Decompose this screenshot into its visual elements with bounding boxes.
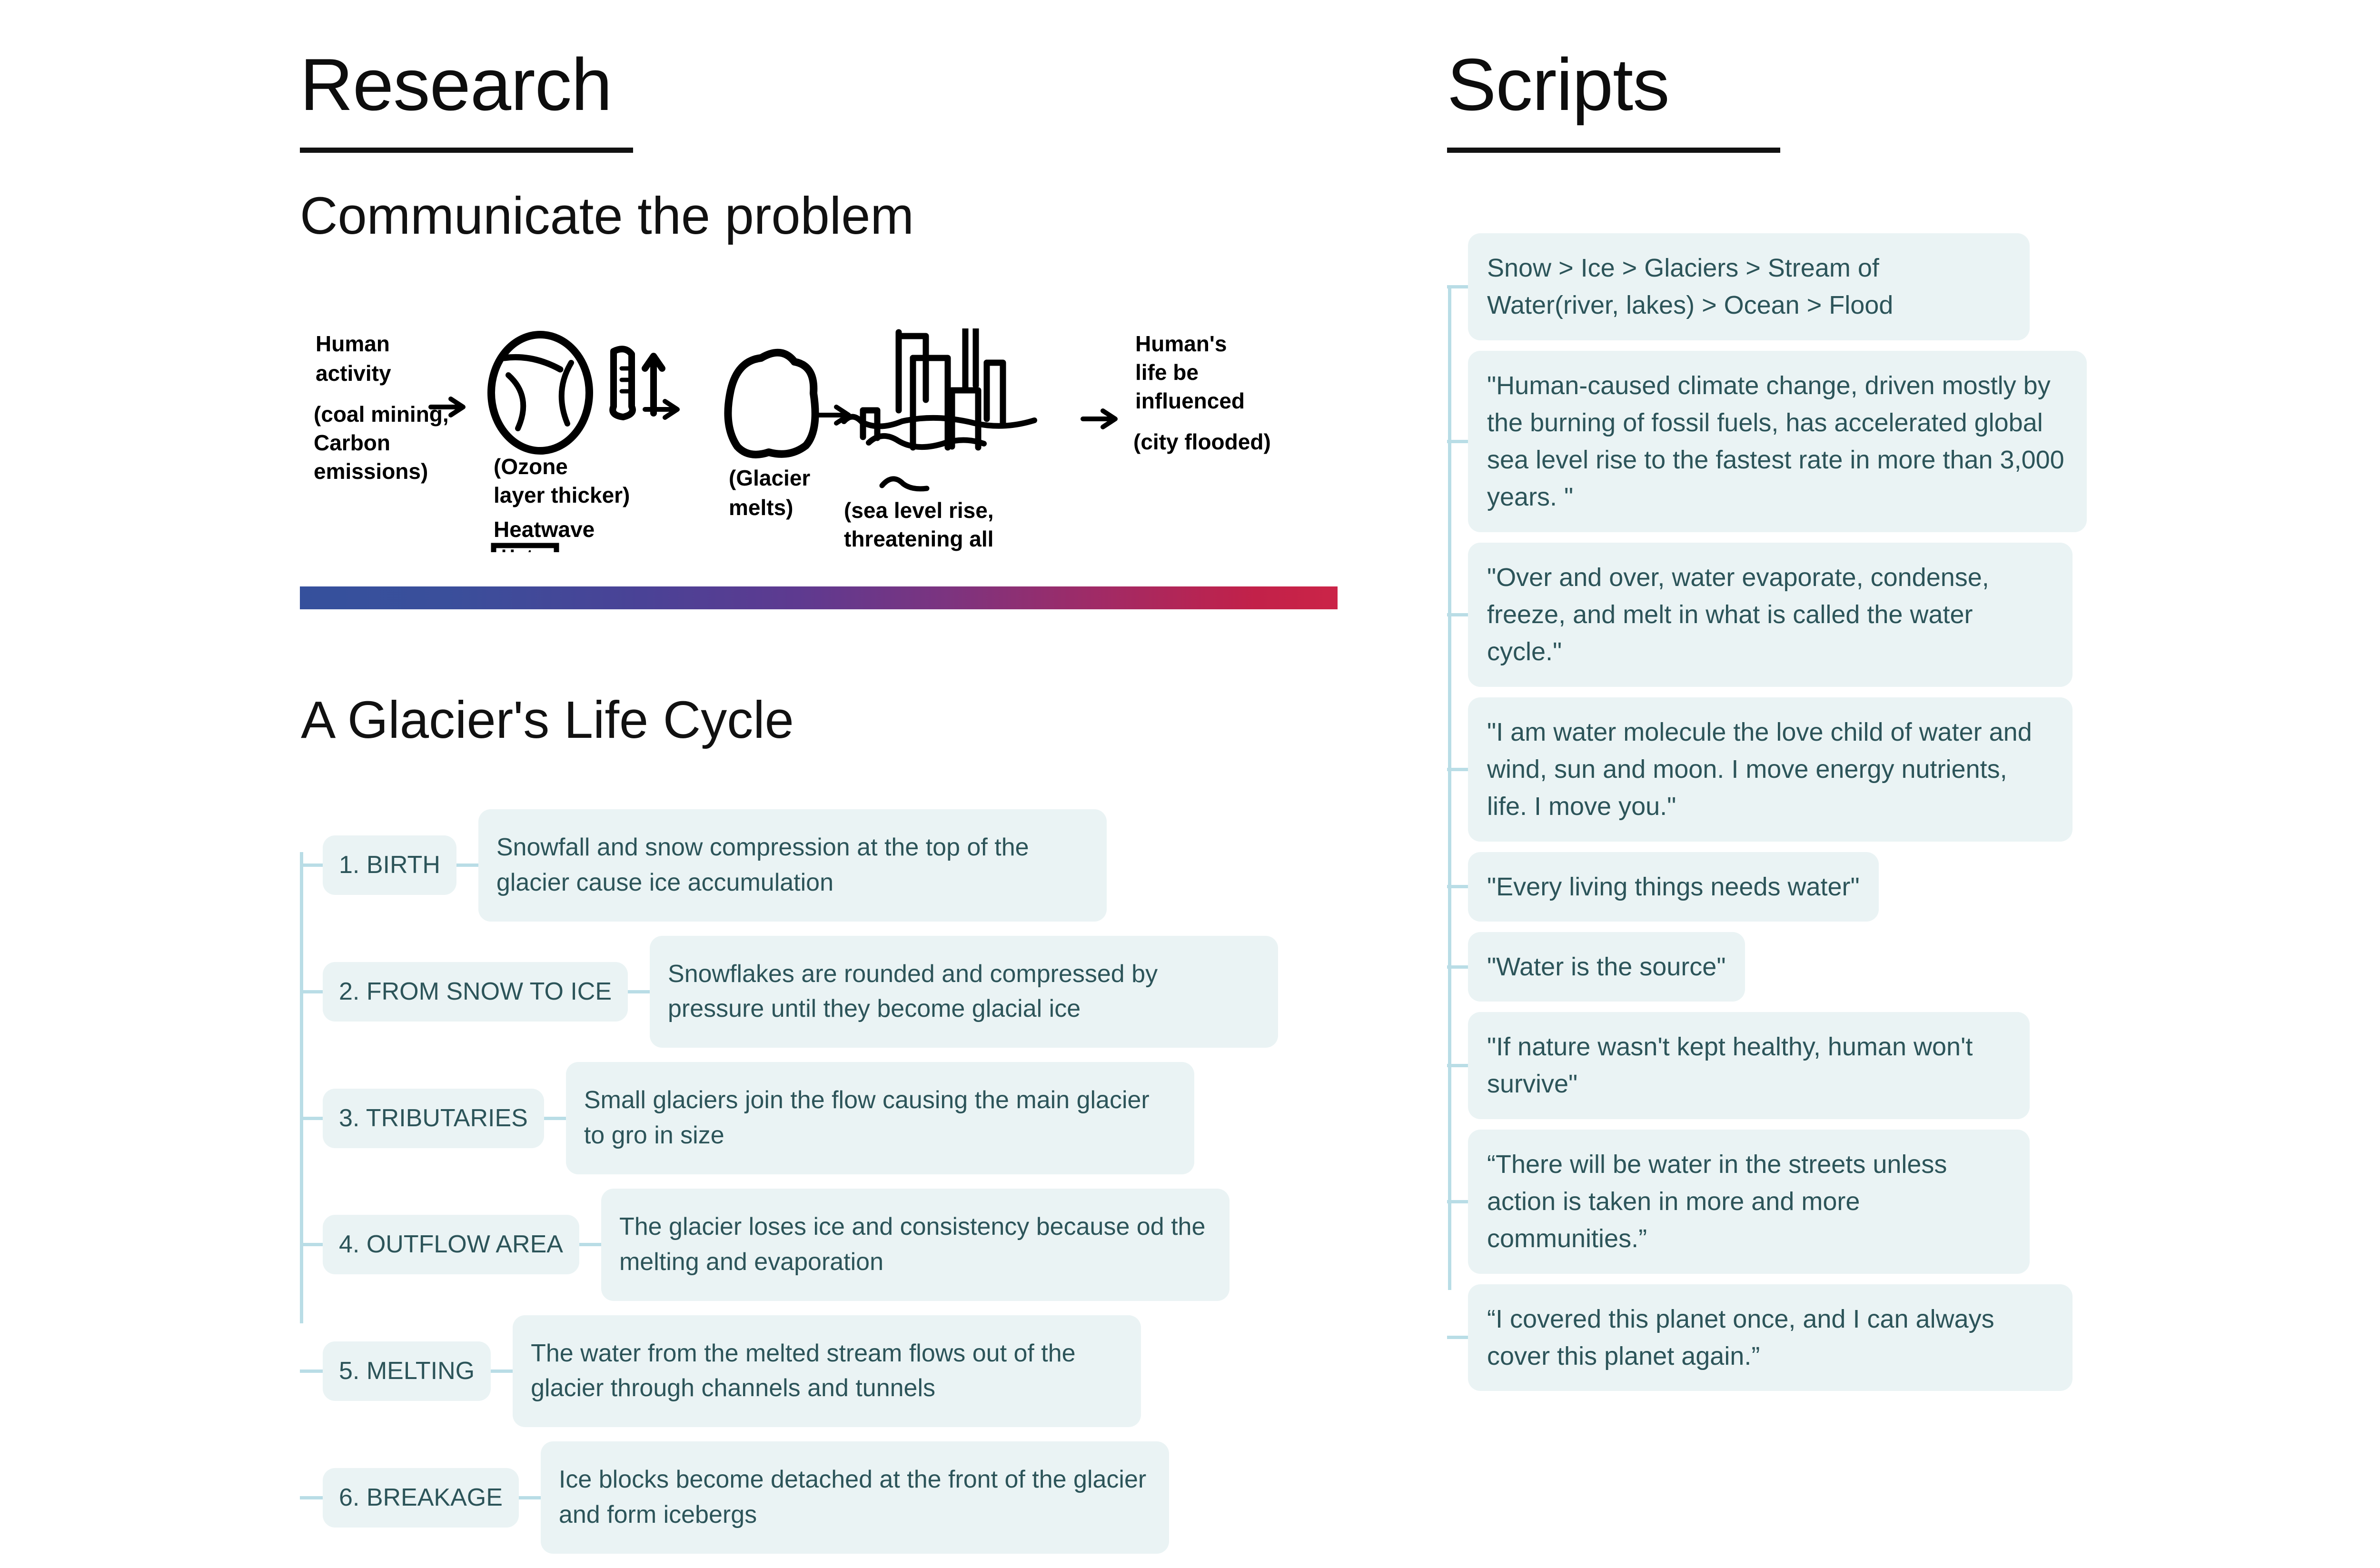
sketch-caption-coal-mining: (coal mining,: [314, 402, 449, 427]
script-item-3[interactable]: "Over and over, water evaporate, condens…: [1447, 543, 2380, 687]
scripts-heading-rule: [1447, 148, 1780, 153]
glacier-step-2[interactable]: 2. FROM SNOW TO ICE Snowflakes are round…: [300, 936, 1347, 1048]
script-item-7[interactable]: "If nature wasn't kept healthy, human wo…: [1447, 1012, 2380, 1119]
glacier-step-label: 1. BIRTH: [323, 835, 456, 895]
glacier-step-description: The water from the melted stream flows o…: [513, 1315, 1141, 1428]
sketch-caption-city-flooded: (city flooded): [1133, 429, 1271, 454]
connector-line: [456, 863, 478, 867]
sketch-label-human-activity-2: activity: [316, 361, 391, 386]
connector-line: [300, 1117, 323, 1120]
research-heading-rule: [300, 148, 633, 153]
connector-line: [300, 863, 323, 867]
connector-line: [1447, 285, 1468, 288]
glacier-step-label: 6. BREAKAGE: [323, 1468, 519, 1528]
connector-line: [1447, 768, 1468, 771]
glacier-step-6[interactable]: 6. BREAKAGE Ice blocks become detached a…: [300, 1441, 1347, 1554]
scripts-heading: Scripts: [1447, 48, 2380, 121]
connector-line: [579, 1243, 601, 1246]
connector-line: [300, 1243, 323, 1246]
glacier-step-label: 3. TRIBUTARIES: [323, 1089, 544, 1148]
script-card: "Over and over, water evaporate, condens…: [1468, 543, 2073, 687]
connector-line: [1447, 1064, 1468, 1067]
sketch-label-human-life-3: influenced: [1135, 388, 1245, 413]
connector-line: [544, 1117, 566, 1120]
glacier-step-description: The glacier loses ice and consistency be…: [601, 1189, 1230, 1301]
script-card: "If nature wasn't kept healthy, human wo…: [1468, 1012, 2030, 1119]
script-item-9[interactable]: “I covered this planet once, and I can a…: [1447, 1284, 2380, 1391]
sketch-label-human-activity-1: Human: [316, 331, 390, 356]
script-item-4[interactable]: "I am water molecule the love child of w…: [1447, 697, 2380, 842]
connector-line: [1447, 1200, 1468, 1203]
connector-line: [300, 1370, 323, 1373]
sketch-caption-glacier-2: melts): [729, 495, 793, 520]
script-card: "Water is the source": [1468, 932, 1745, 1002]
glacier-step-1[interactable]: 1. BIRTH Snowfall and snow compression a…: [300, 809, 1347, 922]
sketch-caption-emissions: emissions): [314, 459, 428, 484]
script-card: Snow > Ice > Glaciers > Stream of Water(…: [1468, 233, 2030, 340]
glacier-life-cycle-list: 1. BIRTH Snowfall and snow compression a…: [300, 809, 1347, 1568]
script-card: "I am water molecule the love child of w…: [1468, 697, 2073, 842]
script-item-1[interactable]: Snow > Ice > Glaciers > Stream of Water(…: [1447, 233, 2380, 340]
communicate-the-problem-title: Communicate the problem: [300, 189, 1357, 244]
sketch-caption-ozone-2: layer thicker): [494, 483, 630, 507]
sketch-label-human-life-1: Human's: [1135, 331, 1227, 356]
glacier-step-4[interactable]: 4. OUTFLOW AREA The glacier loses ice an…: [300, 1189, 1347, 1301]
sketch-caption-ozone-1: (Ozone: [494, 454, 568, 479]
climate-chain-sketch: Human activity (coal mining, Carbon emis…: [312, 328, 1335, 552]
sketch-caption-heatwave: Heatwave: [494, 517, 595, 542]
temperature-gradient-bar: [300, 586, 1338, 609]
research-heading: Research: [300, 48, 1357, 121]
script-item-5[interactable]: "Every living things needs water": [1447, 852, 2380, 922]
glacier-step-description: Snowfall and snow compression at the top…: [478, 809, 1107, 922]
sketch-caption-glacier-1: (Glacier: [729, 466, 810, 490]
connector-line: [1447, 965, 1468, 969]
slide-canvas: Research Communicate the problem: [0, 0, 2380, 1428]
svg-text:Hot: Hot: [501, 546, 533, 552]
glacier-step-description: Ice blocks become detached at the front …: [541, 1441, 1169, 1554]
connector-line: [300, 990, 323, 993]
sketch-label-human-life-2: life be: [1135, 360, 1199, 385]
connector-line: [1447, 885, 1468, 888]
script-item-8[interactable]: “There will be water in the streets unle…: [1447, 1130, 2380, 1274]
sketch-caption-sea-1: (sea level rise,: [844, 498, 994, 523]
script-item-6[interactable]: "Water is the source": [1447, 932, 2380, 1002]
script-card: "Every living things needs water": [1468, 852, 1879, 922]
script-card: "Human-caused climate change, driven mos…: [1468, 351, 2087, 532]
connector-line: [491, 1370, 513, 1373]
glacier-step-3[interactable]: 3. TRIBUTARIES Small glaciers join the f…: [300, 1062, 1347, 1174]
glacier-step-label: 2. FROM SNOW TO ICE: [323, 962, 628, 1022]
glacier-step-label: 4. OUTFLOW AREA: [323, 1215, 579, 1274]
connector-line: [300, 1496, 323, 1499]
script-card: “I covered this planet once, and I can a…: [1468, 1284, 2073, 1391]
glacier-step-description: Small glaciers join the flow causing the…: [566, 1062, 1194, 1174]
scripts-list: Snow > Ice > Glaciers > Stream of Water(…: [1447, 233, 2380, 1401]
connector-line: [1447, 1336, 1468, 1339]
scripts-column: Scripts: [1447, 48, 2380, 153]
glacier-step-description: Snowflakes are rounded and compressed by…: [650, 936, 1278, 1048]
sketch-caption-carbon: Carbon: [314, 430, 390, 455]
glacier-step-label: 5. MELTING: [323, 1341, 491, 1401]
connector-line: [628, 990, 650, 993]
glacier-step-5[interactable]: 5. MELTING The water from the melted str…: [300, 1315, 1347, 1428]
research-column: Research Communicate the problem: [300, 48, 1357, 244]
sketch-hot-badge: Hot: [494, 546, 556, 552]
script-item-2[interactable]: "Human-caused climate change, driven mos…: [1447, 351, 2380, 532]
connector-line: [1447, 440, 1468, 443]
connector-line: [519, 1496, 541, 1499]
connector-line: [1447, 613, 1468, 616]
sketch-caption-sea-2: threatening all: [844, 526, 993, 551]
script-card: “There will be water in the streets unle…: [1468, 1130, 2030, 1274]
glacier-life-cycle-title: A Glacier's Life Cycle: [301, 693, 794, 748]
